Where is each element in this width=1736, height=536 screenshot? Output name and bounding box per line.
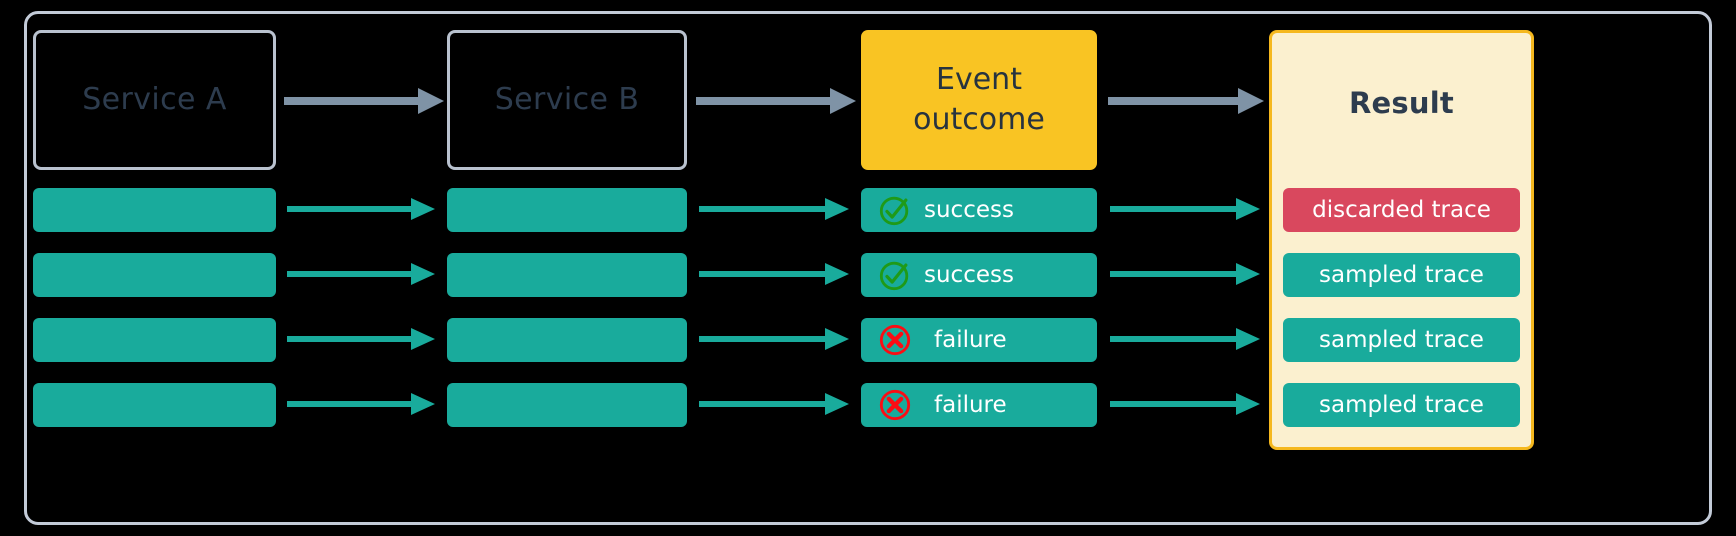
event-outcome-label: Eventoutcome [913,60,1045,139]
table-row-1-outcome: success [861,188,1097,232]
arrow-service-b-to-event-outcome [696,88,856,114]
check-circle-icon [878,193,912,227]
table-row-1-service-a-bar [33,188,276,232]
table-row-2-outcome-label: success [924,262,1014,288]
table-row-3-service-a-bar [33,318,276,362]
arrow-row-3-b-to-outcome [699,328,849,350]
arrow-row-3-outcome-to-result [1110,328,1260,350]
table-row-4-service-b-bar [447,383,687,427]
x-circle-icon [878,323,912,357]
event-outcome-label-line2: outcome [913,102,1045,137]
table-row-1-result-badge: discarded trace [1283,188,1520,232]
arrow-row-1-outcome-to-result [1110,198,1260,220]
table-row-2-outcome: success [861,253,1097,297]
arrow-row-4-b-to-outcome [699,393,849,415]
table-row-1-service-b-bar [447,188,687,232]
arrow-row-1-b-to-outcome [699,198,849,220]
arrow-row-2-a-to-b [287,263,435,285]
arrow-row-1-a-to-b [287,198,435,220]
arrow-row-4-outcome-to-result [1110,393,1260,415]
column-header-service-b: Service B [447,30,687,170]
arrow-service-a-to-service-b [284,88,444,114]
table-row-3-service-b-bar [447,318,687,362]
table-row-3-outcome-label: failure [934,327,1007,353]
x-circle-icon [878,388,912,422]
column-header-service-a: Service A [33,30,276,170]
result-title: Result [1272,33,1531,173]
column-header-event-outcome: Eventoutcome [861,30,1097,170]
check-circle-icon [878,258,912,292]
arrow-row-4-a-to-b [287,393,435,415]
table-row-2-service-a-bar [33,253,276,297]
table-row-4-service-a-bar [33,383,276,427]
arrow-event-outcome-to-result [1108,88,1264,114]
table-row-3-result-badge: sampled trace [1283,318,1520,362]
table-row-4-result-badge: sampled trace [1283,383,1520,427]
arrow-row-2-outcome-to-result [1110,263,1260,285]
table-row-3-outcome: failure [861,318,1097,362]
table-row-2-result-badge: sampled trace [1283,253,1520,297]
service-b-label: Service B [495,81,640,119]
table-row-1-outcome-label: success [924,197,1014,223]
event-outcome-label-line1: Event [936,62,1022,97]
arrow-row-2-b-to-outcome [699,263,849,285]
table-row-4-outcome: failure [861,383,1097,427]
table-row-2-service-b-bar [447,253,687,297]
diagram-canvas: Service A Service B Eventoutcome Result … [0,0,1736,536]
service-a-label: Service A [82,81,227,119]
table-row-4-outcome-label: failure [934,392,1007,418]
arrow-row-3-a-to-b [287,328,435,350]
